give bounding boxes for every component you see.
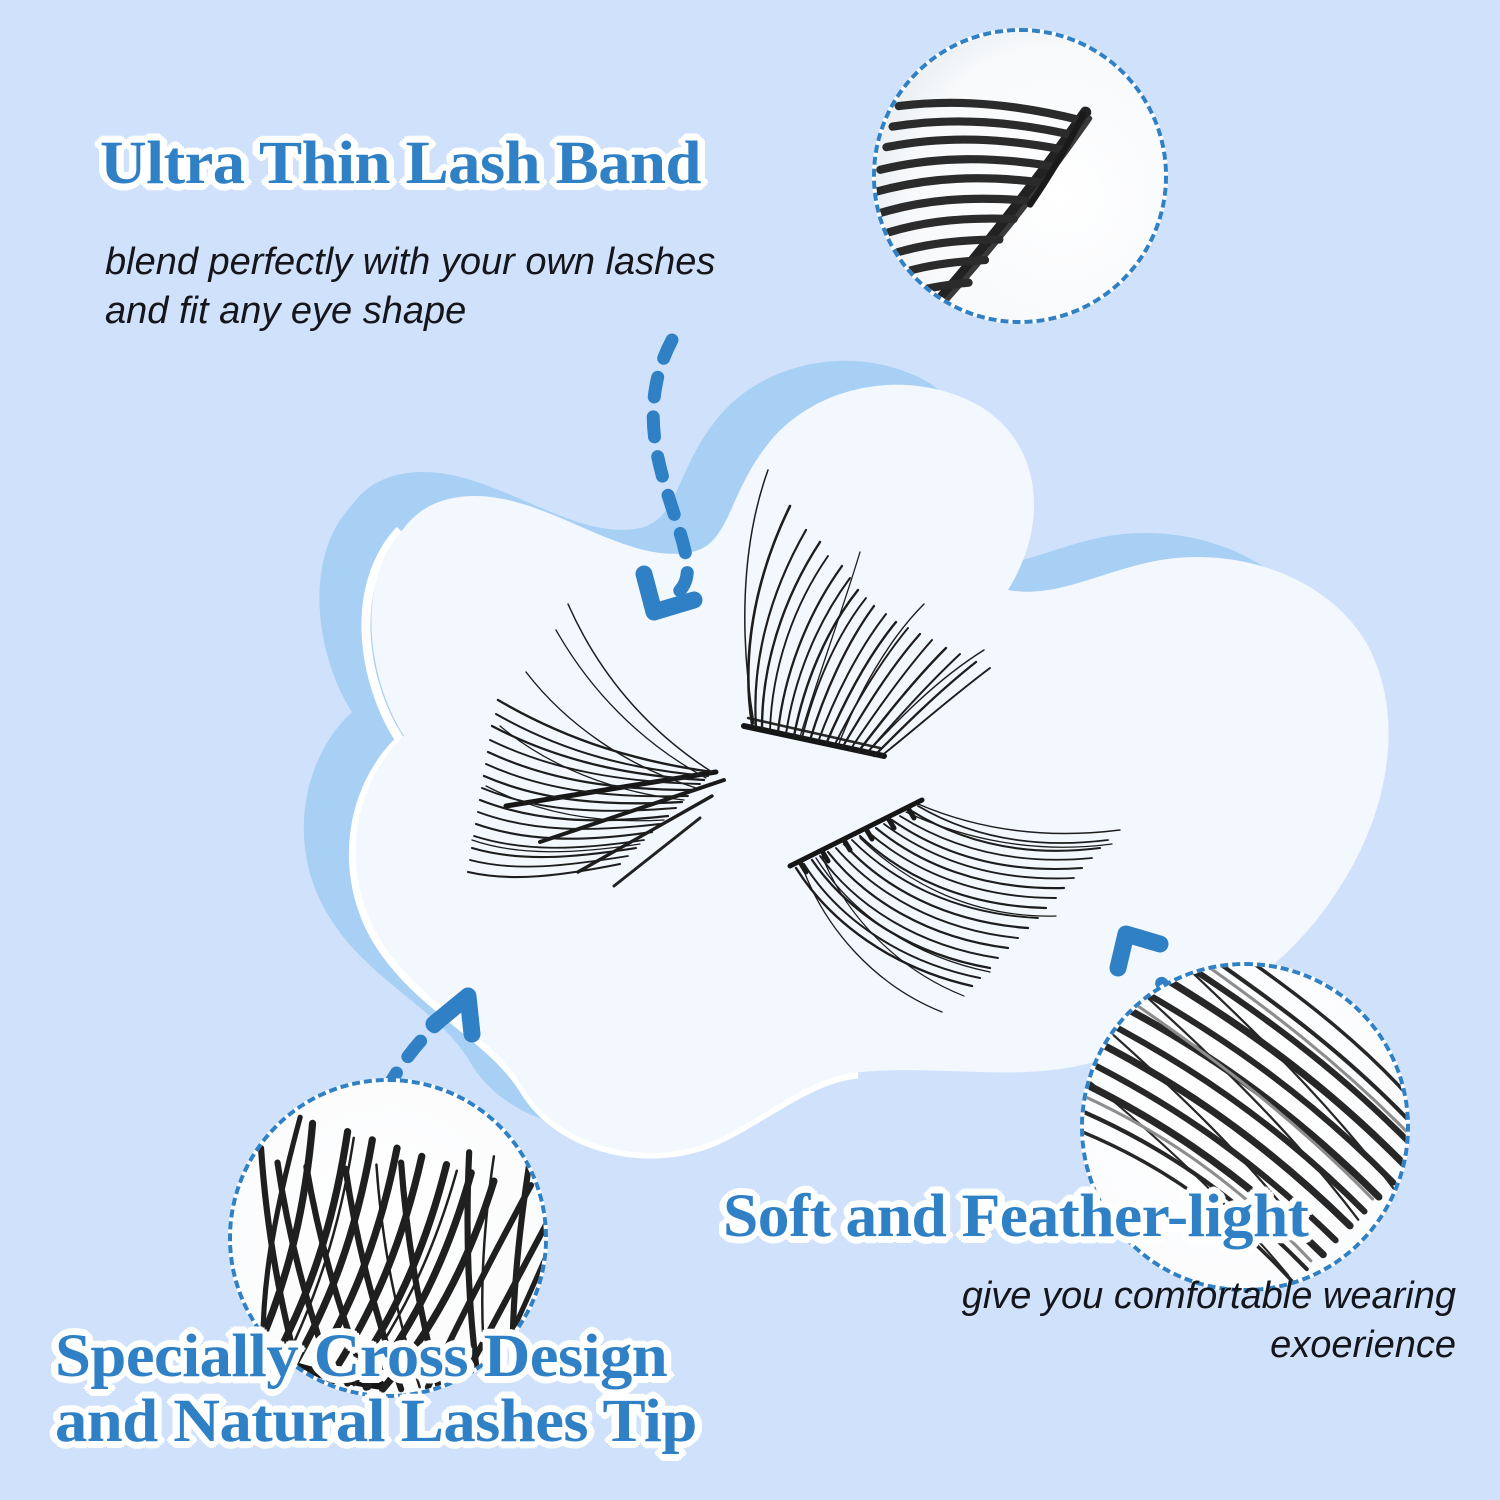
arrow-to-feather-head <box>1118 934 1160 968</box>
heading-ultra-thin-lash-band: Ultra Thin Lash Band <box>100 132 701 197</box>
lash-band-macro-photo <box>872 28 1168 324</box>
subtitle-ultra-thin-lash-band: blend perfectly with your own lashes and… <box>105 238 715 337</box>
arrow-to-cross-design-head <box>434 996 472 1034</box>
arrow-to-lash-band-path <box>653 340 687 600</box>
heading-soft-and-feather-light: Soft and Feather-light <box>723 1185 1308 1250</box>
callout-lash-band <box>872 28 1168 324</box>
heading-specially-cross-design: Specially Cross Design and Natural Lashe… <box>55 1325 697 1454</box>
subtitle-soft-and-feather-light: give you comfortable wearing exoerience <box>846 1272 1456 1371</box>
infographic-canvas: Ultra Thin Lash Band blend perfectly wit… <box>0 0 1500 1500</box>
